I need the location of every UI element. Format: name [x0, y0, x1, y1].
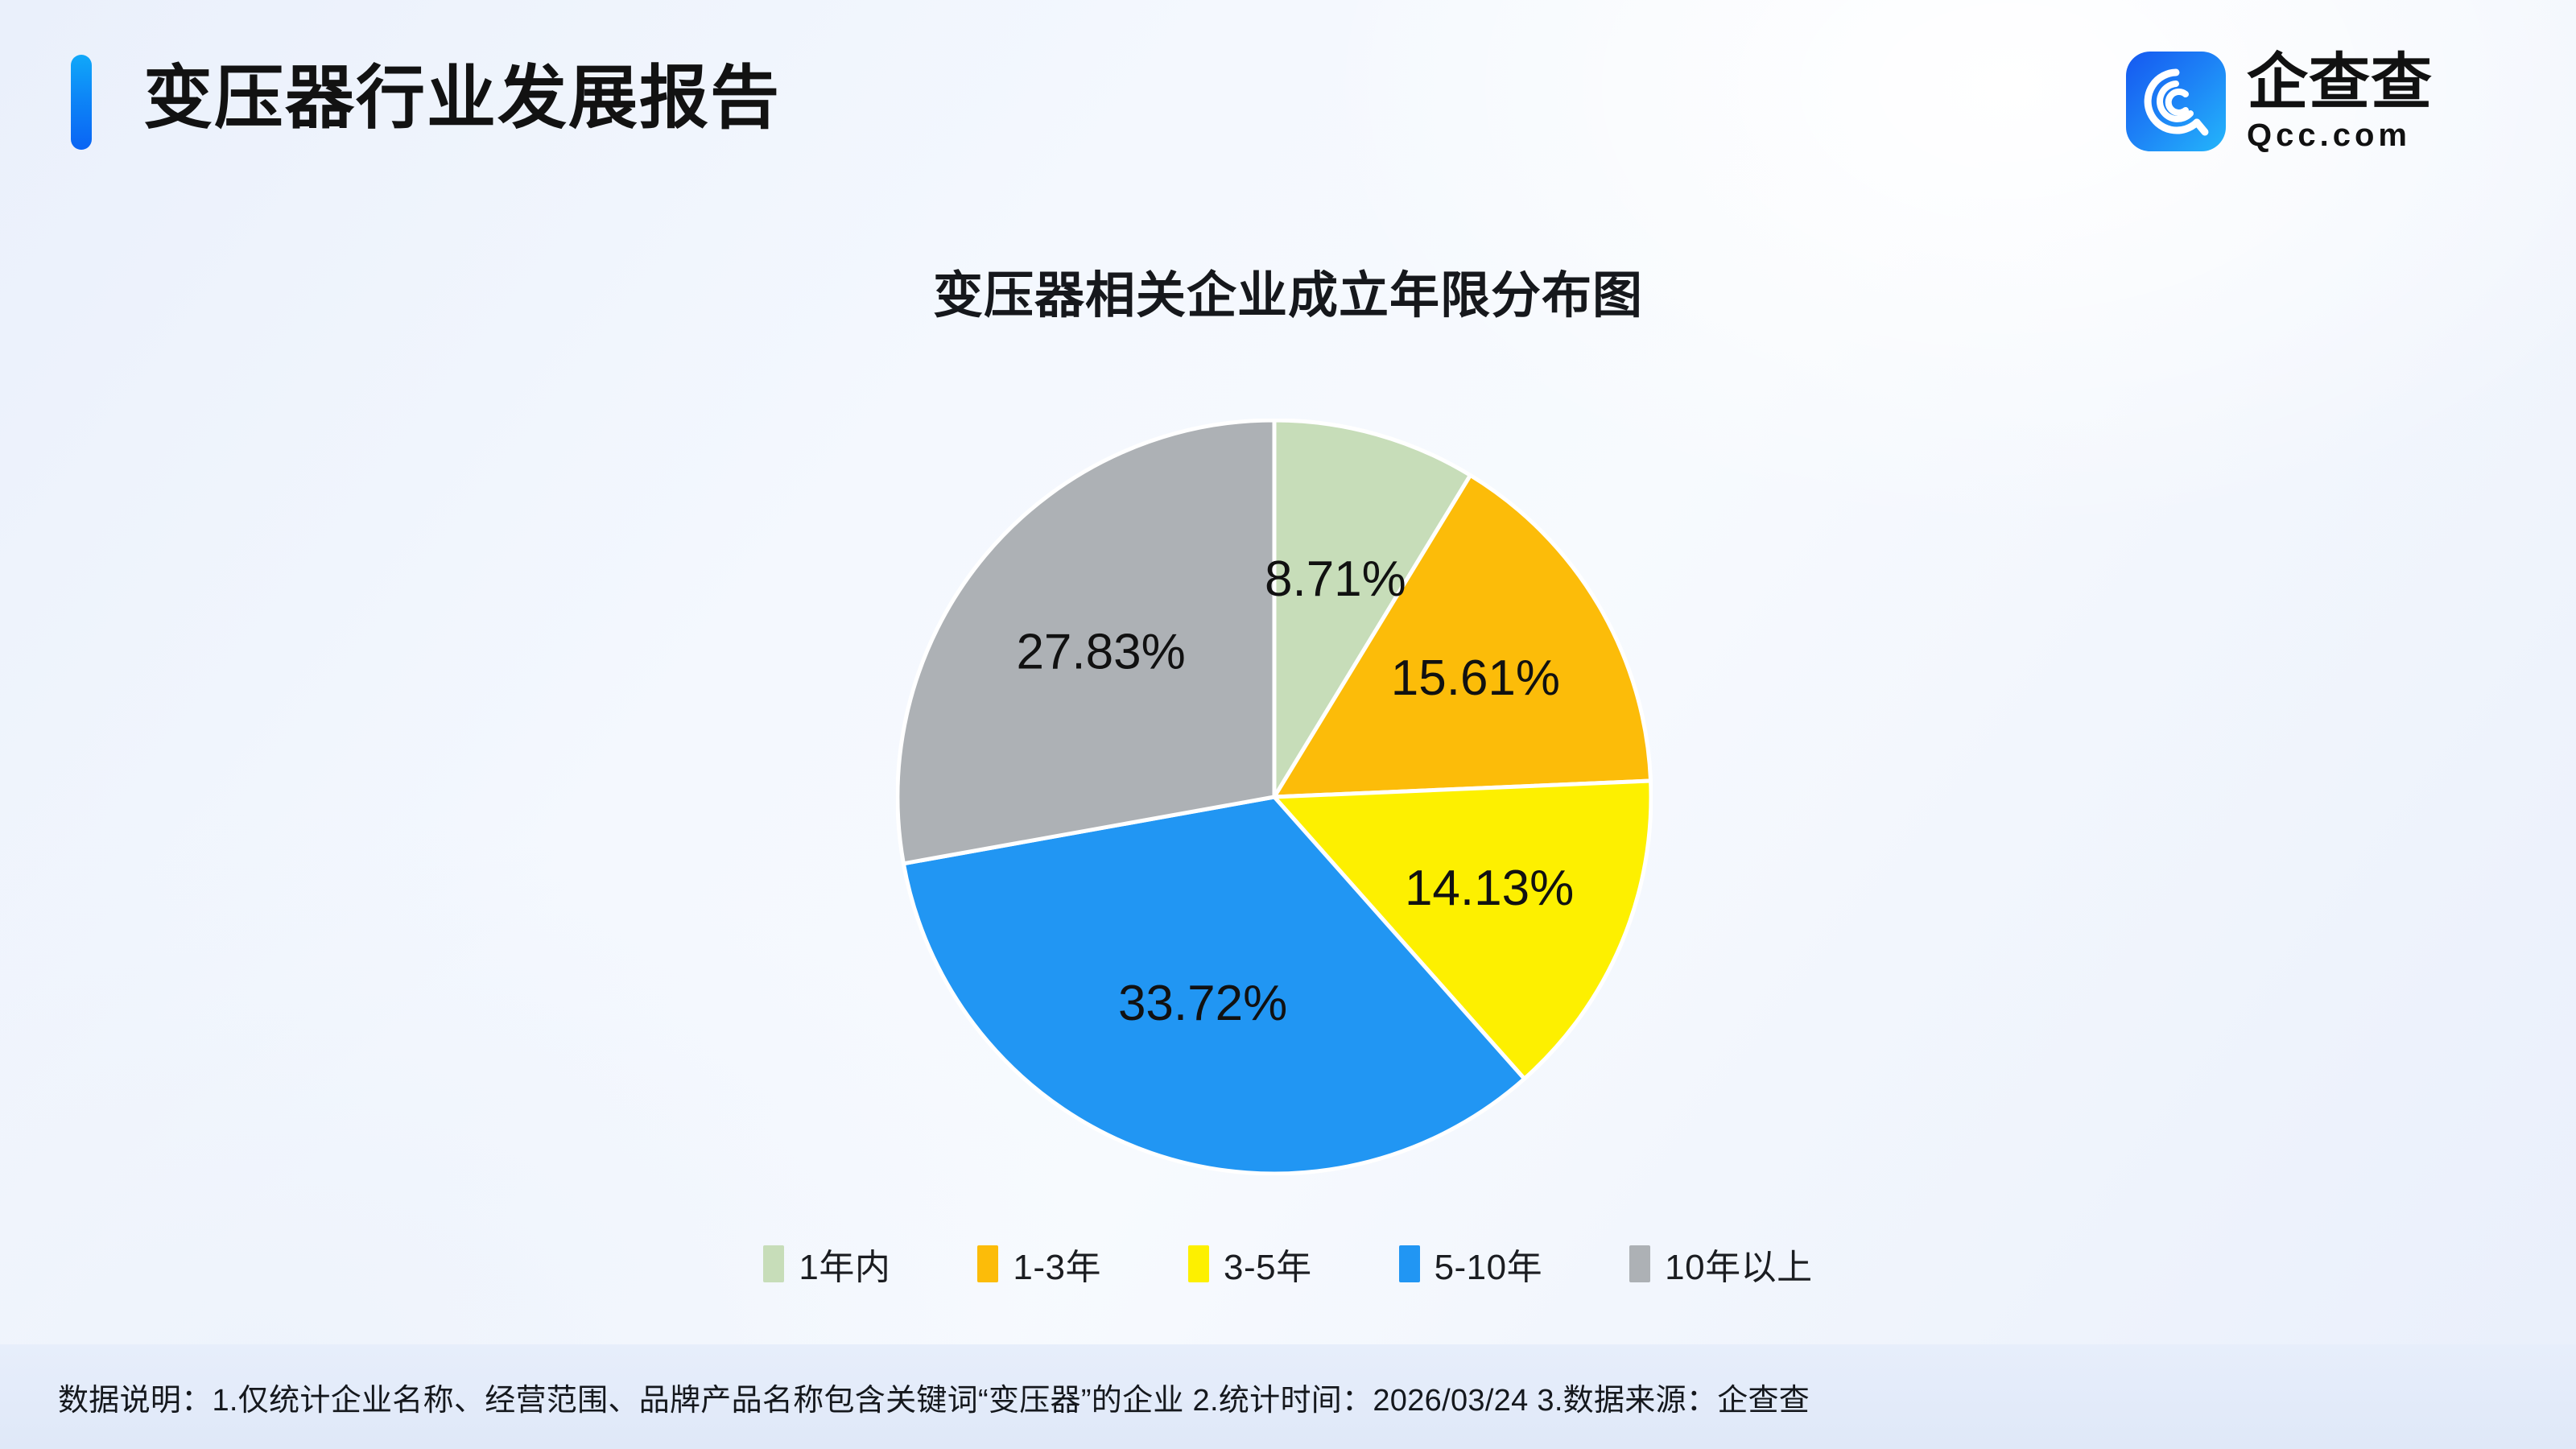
pie-slice-label-5-10年: 33.72%	[1118, 976, 1287, 1031]
data-source-note: 数据说明：1.仅统计企业名称、经营范围、品牌产品名称包含关键词“变压器”的企业 …	[0, 1375, 1810, 1419]
legend-item-3-5年[interactable]: 3-5年	[1188, 1238, 1312, 1290]
pie-chart-svg: 8.71%15.61%14.13%33.72%27.83%	[896, 419, 1653, 1175]
legend-item-5-10年[interactable]: 5-10年	[1399, 1238, 1543, 1290]
page-title: 变压器行业发展报告	[143, 42, 781, 155]
brand-logo: 企查查 Qcc.com	[2126, 50, 2433, 153]
legend-item-1年内[interactable]: 1年内	[763, 1238, 890, 1290]
title-accent-bar	[71, 55, 92, 150]
pie-slice-label-10年以上: 27.83%	[1016, 624, 1185, 679]
page-footer: 数据说明：1.仅统计企业名称、经营范围、品牌产品名称包含关键词“变压器”的企业 …	[0, 1344, 2576, 1449]
legend-item-label: 3-5年	[1224, 1238, 1312, 1290]
pie-slice-label-3-5年: 14.13%	[1405, 861, 1574, 916]
legend-item-1-3年[interactable]: 1-3年	[977, 1238, 1101, 1290]
legend-item-label: 1-3年	[1013, 1238, 1101, 1290]
chart-legend: 1年内1-3年3-5年5-10年10年以上	[0, 1238, 2576, 1290]
legend-item-label: 1年内	[799, 1238, 890, 1290]
pie-slice-group	[898, 420, 1651, 1174]
chart-title: 变压器相关企业成立年限分布图	[0, 254, 2576, 327]
pie-slice-label-1年内: 8.71%	[1265, 551, 1406, 607]
legend-swatch-icon	[1188, 1245, 1209, 1282]
legend-item-label: 5-10年	[1435, 1238, 1543, 1290]
report-page: 变压器行业发展报告 企查查 Qcc.com 变压器相关企业成立年限分布图	[0, 0, 2576, 1449]
brand-text: 企查查 Qcc.com	[2247, 50, 2433, 153]
pie-chart: 8.71%15.61%14.13%33.72%27.83%	[896, 419, 1653, 1175]
pie-slice-label-1-3年: 15.61%	[1391, 650, 1560, 706]
qcc-logo-icon	[2126, 52, 2226, 151]
legend-swatch-icon	[977, 1245, 998, 1282]
legend-item-10年以上[interactable]: 10年以上	[1629, 1238, 1812, 1290]
page-header: 变压器行业发展报告 企查查 Qcc.com	[0, 0, 2576, 201]
brand-name: 企查查	[2247, 50, 2433, 116]
brand-domain: Qcc.com	[2247, 118, 2433, 153]
legend-item-label: 10年以上	[1665, 1238, 1812, 1290]
legend-swatch-icon	[1399, 1245, 1420, 1282]
legend-swatch-icon	[763, 1245, 784, 1282]
legend-swatch-icon	[1629, 1245, 1650, 1282]
